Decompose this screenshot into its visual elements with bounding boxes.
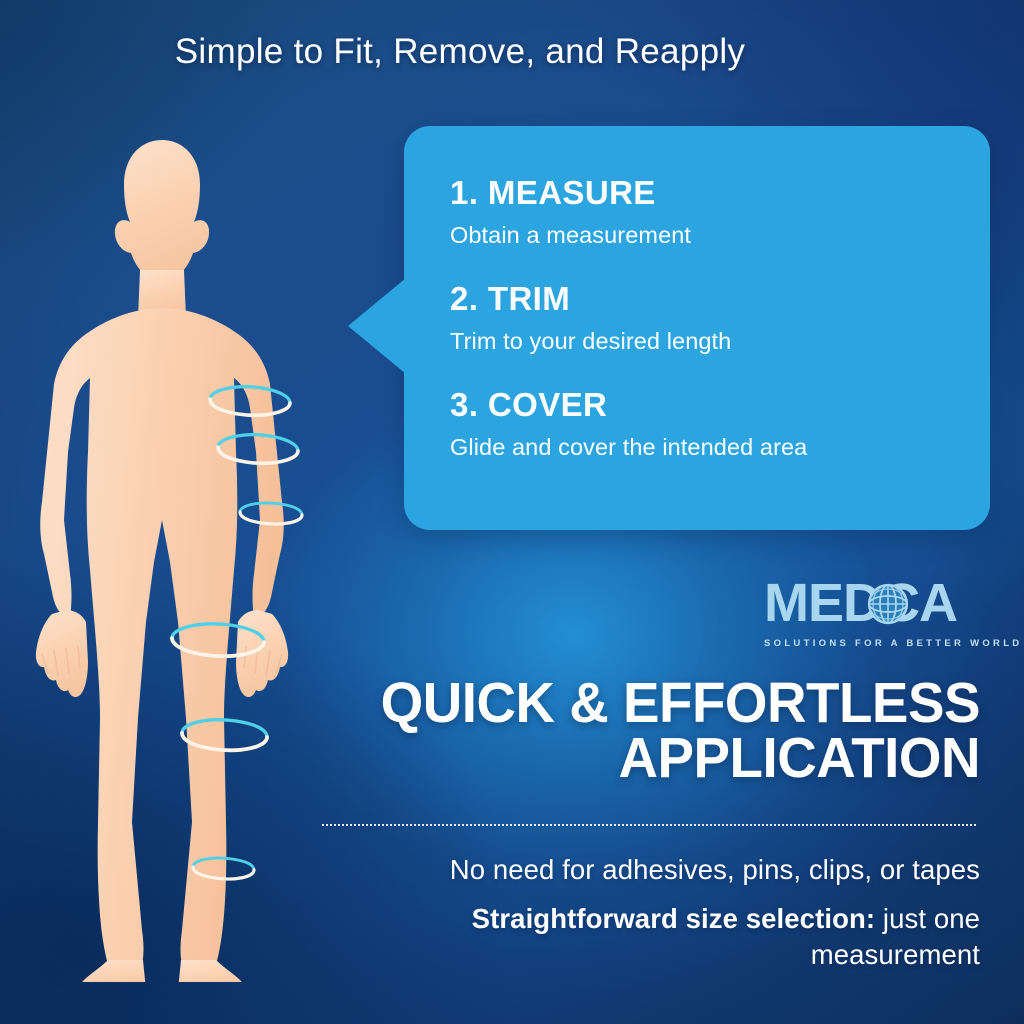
logo-wordmark: MEDCA — [764, 575, 978, 631]
globe-icon — [867, 583, 909, 625]
heading-line-1: QUICK & EFFORTLESS — [344, 676, 980, 731]
logo-wordmark-text: MEDCA — [764, 576, 957, 630]
heading-line-2: APPLICATION — [344, 731, 980, 786]
body-shape — [36, 140, 288, 982]
step-title: 3. COVER — [450, 386, 960, 424]
step-item-trim: 2. TRIM Trim to your desired length — [450, 280, 960, 355]
step-title: 2. TRIM — [450, 280, 960, 318]
marketing-heading: QUICK & EFFORTLESS APPLICATION — [344, 676, 980, 787]
medca-logo: MEDCA SOLUTIONS FOR A BETTER WORLD — [764, 575, 978, 657]
bottom-copy: No need for adhesives, pins, clips, or t… — [300, 852, 980, 973]
step-description: Glide and cover the intended area — [450, 433, 960, 461]
logo-tagline: SOLUTIONS FOR A BETTER WORLD — [764, 638, 978, 649]
callout-tail — [348, 278, 406, 374]
step-title: 1. MEASURE — [450, 174, 960, 212]
instructions-callout: 1. MEASURE Obtain a measurement 2. TRIM … — [404, 126, 990, 530]
benefit-emphasis: Straightforward size selection: — [472, 903, 875, 934]
benefit-line-size-selection: Straightforward size selection: just one… — [300, 901, 980, 973]
step-description: Trim to your desired length — [450, 327, 960, 355]
benefit-line-no-adhesives: No need for adhesives, pins, clips, or t… — [300, 852, 980, 887]
step-item-measure: 1. MEASURE Obtain a measurement — [450, 174, 960, 249]
steps-list: 1. MEASURE Obtain a measurement 2. TRIM … — [450, 174, 960, 461]
step-item-cover: 3. COVER Glide and cover the intended ar… — [450, 386, 960, 461]
poster-canvas: Simple to Fit, Remove, and Reapply — [0, 0, 1024, 1024]
step-description: Obtain a measurement — [450, 221, 960, 249]
page-title: Simple to Fit, Remove, and Reapply — [0, 32, 920, 72]
dotted-divider — [322, 824, 978, 826]
